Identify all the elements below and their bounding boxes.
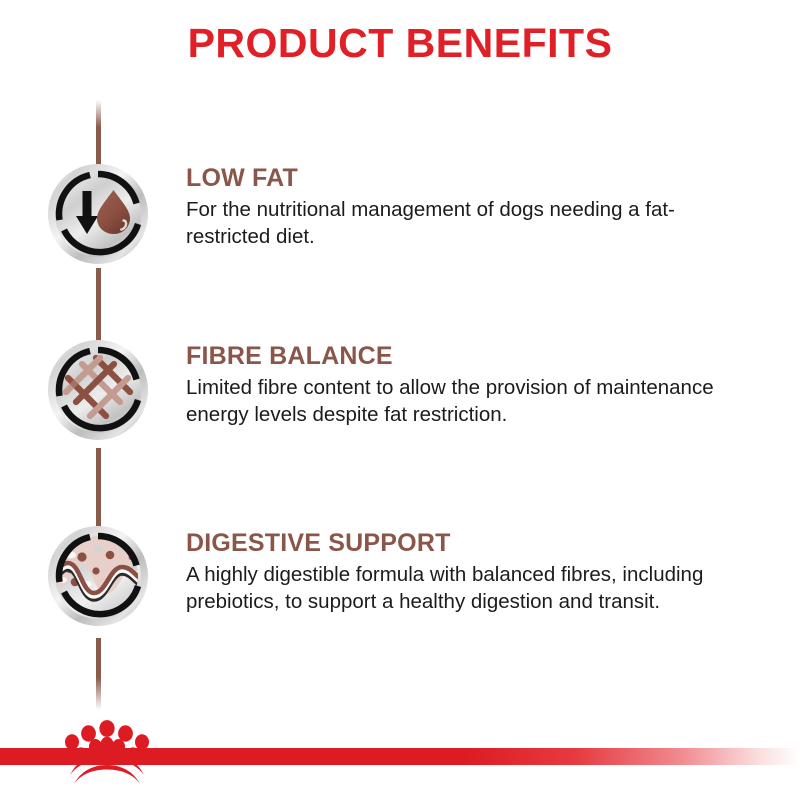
benefit-text-digestive-support: DIGESTIVE SUPPORT A highly digestible fo… xyxy=(186,527,746,615)
product-benefits-page: PRODUCT BENEFITS xyxy=(0,0,800,800)
benefit-item-digestive-support: DIGESTIVE SUPPORT A highly digestible fo… xyxy=(0,527,800,628)
digestive-support-gut-wave-icon xyxy=(46,524,150,628)
page-title: PRODUCT BENEFITS xyxy=(0,20,800,67)
low-fat-droplet-down-arrow-icon xyxy=(46,162,150,266)
benefit-text-low-fat: LOW FAT For the nutritional management o… xyxy=(186,162,746,250)
benefit-heading: LOW FAT xyxy=(186,164,746,192)
benefit-body: A highly digestible formula with balance… xyxy=(186,561,731,615)
benefit-heading: FIBRE BALANCE xyxy=(186,342,746,370)
connector-line-segment-2 xyxy=(96,448,101,536)
benefit-heading: DIGESTIVE SUPPORT xyxy=(186,529,746,557)
benefit-text-fibre-balance: FIBRE BALANCE Limited fibre content to a… xyxy=(186,340,746,428)
connector-line-bottom xyxy=(96,638,101,710)
fibre-balance-weave-icon xyxy=(46,338,150,442)
benefit-item-fibre-balance: FIBRE BALANCE Limited fibre content to a… xyxy=(0,340,800,442)
royal-canin-crown-logo xyxy=(48,714,166,790)
benefit-item-low-fat: LOW FAT For the nutritional management o… xyxy=(0,162,800,266)
benefit-body: For the nutritional management of dogs n… xyxy=(186,196,731,250)
benefit-body: Limited fibre content to allow the provi… xyxy=(186,374,731,428)
